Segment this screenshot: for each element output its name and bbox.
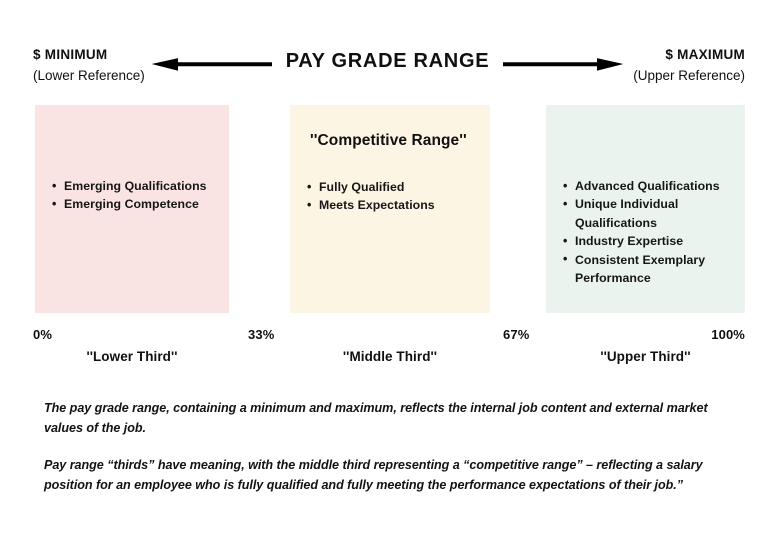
pay-grade-range-infographic: $ MINIMUM (Lower Reference) PAY GRADE RA… [0,0,775,534]
scale-tick-67: 67% [503,327,529,342]
footnote-one: The pay grade range, containing a minimu… [44,398,734,439]
arrow-right-icon [503,51,623,77]
band-upper-third-list: Advanced Qualifications Unique Individua… [563,177,737,288]
band-middle-third: ''Competitive Range'' Fully Qualified Me… [290,105,490,313]
scale-tick-33: 33% [248,327,274,342]
band-middle-third-list: Fully Qualified Meets Expectations [307,178,482,215]
list-item: Fully Qualified [307,178,482,196]
caption-lower-third: ''Lower Third'' [35,349,229,364]
band-lower-third: Emerging Qualifications Emerging Compete… [35,105,229,313]
caption-middle-third: ''Middle Third'' [290,349,490,364]
competitive-range-heading: ''Competitive Range'' [310,132,467,150]
footnote-two: Pay range “thirds” have meaning, with th… [44,455,734,496]
list-item: Emerging Qualifications [52,177,221,195]
list-item: Industry Expertise [563,232,737,250]
caption-upper-third: ''Upper Third'' [546,349,745,364]
maximum-label-text: $ MAXIMUM [665,47,745,62]
list-item: Emerging Competence [52,195,221,213]
list-item: Advanced Qualifications [563,177,737,195]
maximum-sublabel-text: (Upper Reference) [633,66,745,87]
band-upper-third: Advanced Qualifications Unique Individua… [546,105,745,313]
list-item: Consistent Exemplary Performance [563,251,737,288]
band-lower-third-list: Emerging Qualifications Emerging Compete… [52,177,221,214]
list-item: Unique Individual Qualifications [563,195,737,232]
scale-tick-100: 100% [711,327,745,342]
scale-tick-0: 0% [33,327,52,342]
list-item: Meets Expectations [307,196,482,214]
maximum-reference-label: $ MAXIMUM (Upper Reference) [633,45,745,87]
